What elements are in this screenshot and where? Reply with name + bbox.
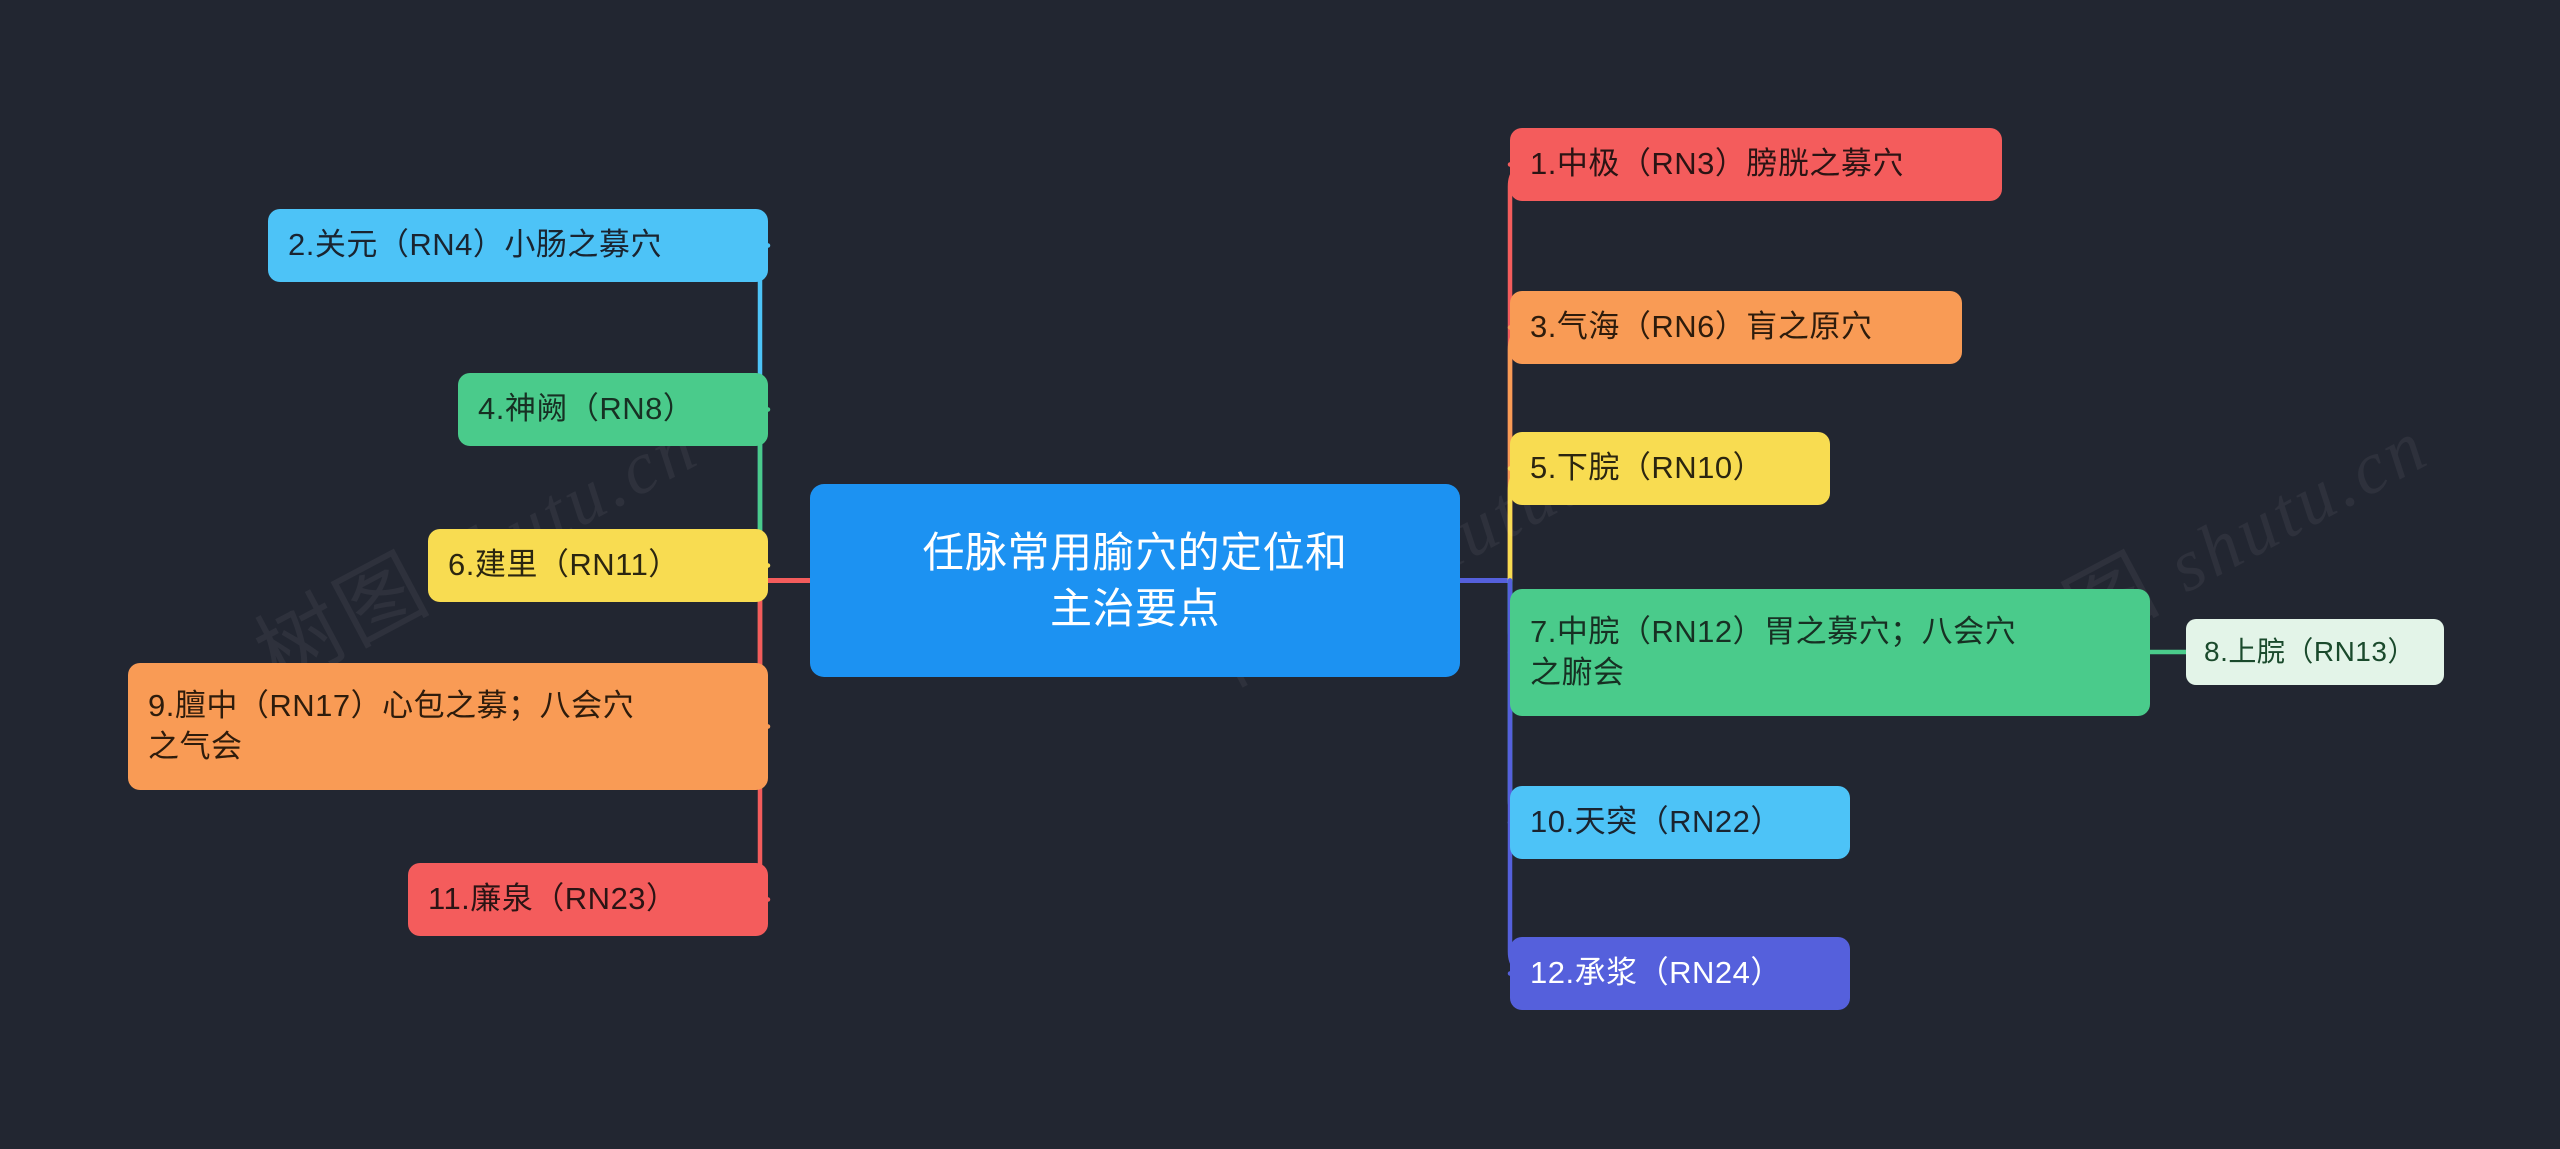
topic-node-1[interactable]: 1.中极（RN3）膀胱之募穴 xyxy=(1510,128,2002,201)
topic-node-3[interactable]: 3.气海（RN6）肓之原穴 xyxy=(1510,291,1962,364)
node-label: 4.神阙（RN8） xyxy=(478,389,694,430)
node-label: 10.天突（RN22） xyxy=(1530,802,1782,843)
topic-node-8[interactable]: 8.上脘（RN13） xyxy=(2186,619,2444,685)
node-label: 任脉常用腧穴的定位和 主治要点 xyxy=(922,525,1347,637)
topic-node-12[interactable]: 12.承浆（RN24） xyxy=(1510,937,1850,1010)
topic-node-10[interactable]: 10.天突（RN22） xyxy=(1510,786,1850,859)
mindmap-canvas: 树图 shutu.cn树图 shutu.cn树图 shutu.cn 任脉常用腧穴… xyxy=(0,0,2560,1149)
node-label: 6.建里（RN11） xyxy=(448,545,680,586)
node-label: 12.承浆（RN24） xyxy=(1530,953,1782,994)
node-label: 1.中极（RN3）膀胱之募穴 xyxy=(1530,144,1904,185)
node-label: 7.中脘（RN12）胃之募穴；八会穴 之腑会 xyxy=(1530,612,2016,694)
node-label: 9.膻中（RN17）心包之募；八会穴 之气会 xyxy=(148,686,634,768)
topic-node-7[interactable]: 7.中脘（RN12）胃之募穴；八会穴 之腑会 xyxy=(1510,589,2150,716)
topic-node-11[interactable]: 11.廉泉（RN23） xyxy=(408,863,768,936)
node-label: 11.廉泉（RN23） xyxy=(428,879,678,920)
node-label: 2.关元（RN4）小肠之募穴 xyxy=(288,225,662,266)
topic-node-5[interactable]: 5.下脘（RN10） xyxy=(1510,432,1830,505)
topic-node-4[interactable]: 4.神阙（RN8） xyxy=(458,373,768,446)
node-label: 3.气海（RN6）肓之原穴 xyxy=(1530,307,1872,348)
node-label: 5.下脘（RN10） xyxy=(1530,448,1764,489)
topic-node-9[interactable]: 9.膻中（RN17）心包之募；八会穴 之气会 xyxy=(128,663,768,790)
topic-node-6[interactable]: 6.建里（RN11） xyxy=(428,529,768,602)
root-node[interactable]: 任脉常用腧穴的定位和 主治要点 xyxy=(810,484,1460,677)
node-label: 8.上脘（RN13） xyxy=(2204,634,2416,671)
topic-node-2[interactable]: 2.关元（RN4）小肠之募穴 xyxy=(268,209,768,282)
